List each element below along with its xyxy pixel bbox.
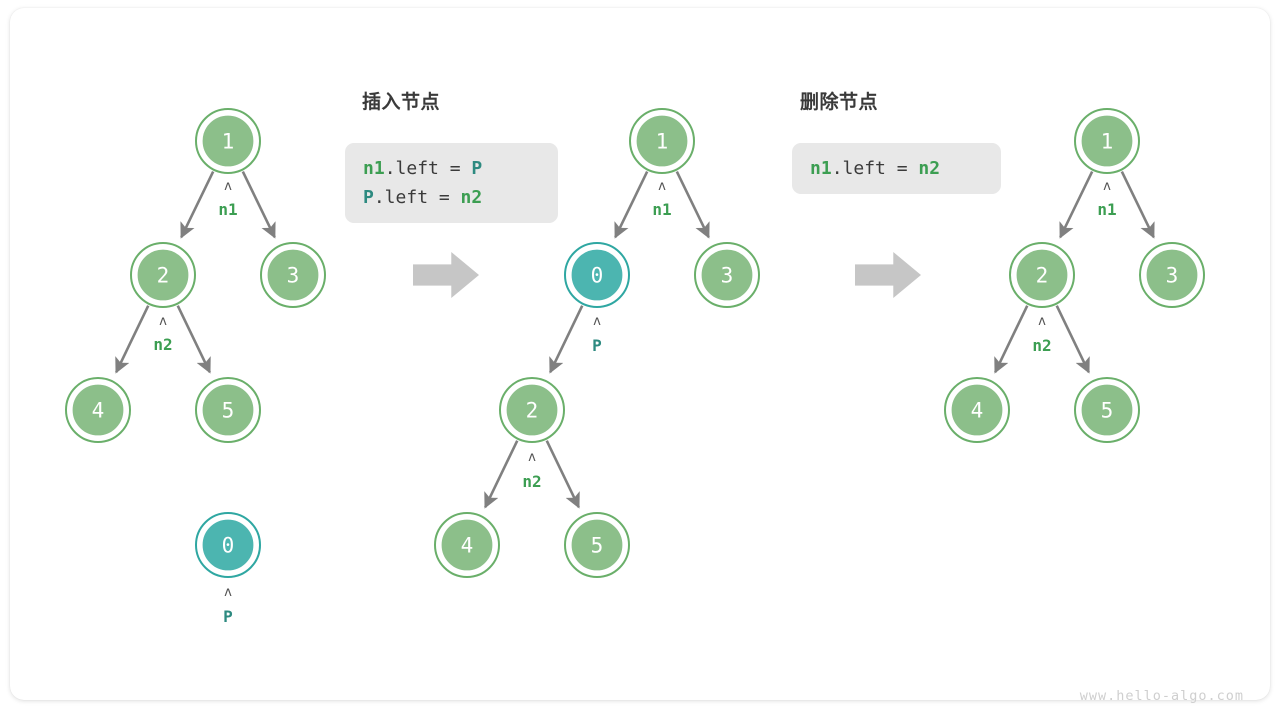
pointer-label: ʌn2	[153, 314, 172, 354]
pointer-label-text: n2	[522, 472, 541, 491]
pointer-caret-icon: ʌ	[159, 314, 167, 329]
tree-node: 4	[945, 378, 1009, 442]
tree-node-value: 2	[157, 264, 170, 288]
pointer-caret-icon: ʌ	[658, 179, 666, 194]
tree-edge	[181, 172, 213, 238]
tree-node: 4	[66, 378, 130, 442]
tree-node: 0	[196, 513, 260, 577]
code-snippet-insert: n1.left = PP.left = n2	[345, 143, 558, 223]
code-token: n2	[918, 158, 940, 179]
pointer-label: ʌP	[223, 585, 233, 626]
tree-node-value: 2	[1036, 264, 1049, 288]
tree-node-value: 5	[591, 534, 604, 558]
panel-title-insert: 插入节点	[362, 87, 440, 114]
tree-node: 4	[435, 513, 499, 577]
pointer-label: ʌn1	[652, 179, 671, 219]
tree-node: 2	[1010, 243, 1074, 307]
code-line: P.left = n2	[363, 183, 540, 212]
tree-edge	[995, 306, 1027, 373]
arrow-2	[855, 252, 921, 298]
tree-node: 1	[196, 109, 260, 173]
tree-node: 5	[196, 378, 260, 442]
pointer-label-text: n1	[652, 200, 671, 219]
code-token: n1	[363, 158, 385, 179]
pointer-label: ʌn2	[1032, 314, 1051, 355]
pointer-caret-icon: ʌ	[224, 179, 232, 194]
tree-edge	[1122, 172, 1154, 238]
tree-node: 0	[565, 243, 629, 307]
pointer-label-text: n1	[218, 200, 237, 219]
tree-scene: 12345010324512345ʌn1ʌn2ʌPʌn1ʌPʌn2ʌn1ʌn2	[0, 0, 1280, 720]
code-token: .left =	[374, 187, 461, 208]
code-line: n1.left = n2	[810, 154, 983, 183]
pointer-label-text: n1	[1097, 200, 1116, 219]
tree-node-value: 0	[222, 534, 235, 558]
tree-node: 1	[630, 109, 694, 173]
tree-node: 2	[131, 243, 195, 307]
arrow-1	[413, 252, 479, 298]
tree-node: 2	[500, 378, 564, 442]
pointer-caret-icon: ʌ	[224, 585, 232, 600]
pointer-label: ʌn1	[1097, 179, 1116, 219]
tree-node-value: 5	[222, 399, 235, 423]
tree-node-value: 3	[721, 264, 734, 288]
pointer-label-text: n2	[1032, 336, 1051, 355]
tree-edge	[550, 306, 582, 373]
tree-edge	[243, 172, 275, 238]
tree-edge	[1057, 306, 1089, 373]
code-token: P	[471, 158, 482, 179]
tree-node-value: 1	[656, 130, 669, 154]
diagram-stage: 12345010324512345ʌn1ʌn2ʌPʌn1ʌPʌn2ʌn1ʌn2 …	[0, 0, 1280, 720]
tree-node-value: 1	[1101, 130, 1114, 154]
tree-node-value: 1	[222, 130, 235, 154]
pointer-label: ʌn1	[218, 179, 237, 219]
pointer-caret-icon: ʌ	[1038, 314, 1046, 329]
tree-edge	[547, 441, 579, 508]
code-token: n1	[810, 158, 832, 179]
tree-node-value: 4	[971, 399, 984, 423]
tree-node: 3	[695, 243, 759, 307]
pointer-label-text: P	[223, 607, 233, 626]
code-snippet-delete: n1.left = n2	[792, 143, 1001, 194]
pointer-caret-icon: ʌ	[1103, 179, 1111, 194]
code-token: .left =	[832, 158, 919, 179]
tree-edge	[116, 306, 148, 373]
pointer-label: ʌP	[592, 314, 602, 355]
tree-node: 5	[565, 513, 629, 577]
tree-node-value: 0	[591, 264, 604, 288]
tree-node: 3	[1140, 243, 1204, 307]
tree-edge	[1060, 172, 1092, 238]
tree-edge	[615, 172, 647, 238]
pointer-label: ʌn2	[522, 450, 541, 491]
pointer-label-text: P	[592, 336, 602, 355]
pointer-caret-icon: ʌ	[593, 314, 601, 329]
pointer-label-text: n2	[153, 335, 172, 354]
tree-node-value: 4	[461, 534, 474, 558]
code-line: n1.left = P	[363, 154, 540, 183]
tree-node-value: 3	[1166, 264, 1179, 288]
tree-node-value: 3	[287, 264, 300, 288]
tree-edge	[485, 441, 517, 508]
tree-node: 5	[1075, 378, 1139, 442]
tree-node: 3	[261, 243, 325, 307]
code-token: n2	[461, 187, 483, 208]
tree-node-value: 5	[1101, 399, 1114, 423]
code-token: P	[363, 187, 374, 208]
pointer-caret-icon: ʌ	[528, 450, 536, 465]
transition-arrow-layer	[413, 252, 921, 298]
panel-title-delete: 删除节点	[800, 87, 878, 114]
tree-edge	[677, 172, 709, 238]
tree-node: 1	[1075, 109, 1139, 173]
tree-node-value: 2	[526, 399, 539, 423]
code-token: .left =	[385, 158, 472, 179]
edge-layer	[116, 172, 1153, 508]
watermark: www.hello-algo.com	[1080, 688, 1244, 704]
tree-edge	[178, 306, 210, 373]
tree-node-value: 4	[92, 399, 105, 423]
